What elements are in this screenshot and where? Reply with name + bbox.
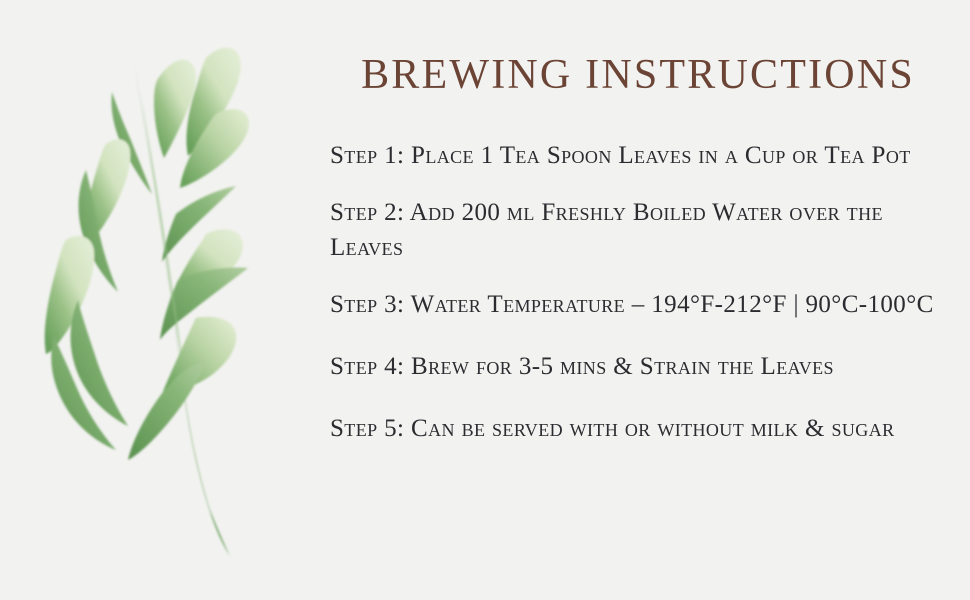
list-item-step-4: Step 4: Brew for 3-5 mins & Strain the L… (330, 349, 948, 384)
list-item-step-5: Step 5: Can be served with or without mi… (330, 411, 948, 446)
branch-group (45, 48, 249, 556)
page-title: BREWING INSTRUCTIONS (330, 52, 946, 98)
list-item-step-2: Step 2: Add 200 ml Freshly Boiled Water … (330, 195, 948, 265)
brewing-instructions-card: BREWING INSTRUCTIONS Step 1: Place 1 Tea… (0, 0, 970, 600)
text-column: BREWING INSTRUCTIONS Step 1: Place 1 Tea… (330, 0, 950, 600)
botanical-branch-illustration (30, 18, 320, 578)
list-item-step-3: Step 3: Water Temperature – 194°F-212°F … (330, 287, 948, 322)
list-item-step-1: Step 1: Place 1 Tea Spoon Leaves in a Cu… (330, 138, 948, 173)
leaf-lower-right-slender (128, 362, 206, 460)
steps-list: Step 1: Place 1 Tea Spoon Leaves in a Cu… (330, 138, 948, 468)
